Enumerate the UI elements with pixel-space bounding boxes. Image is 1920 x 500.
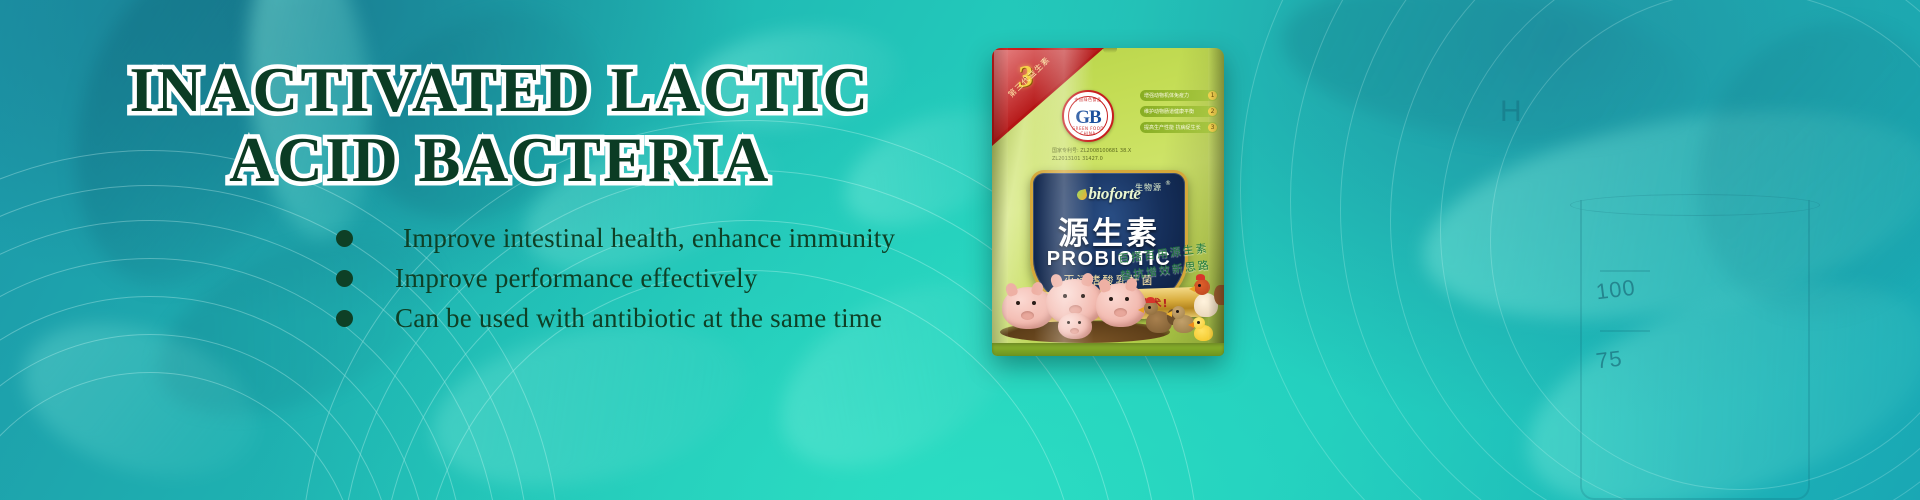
brand-name: bioforte: [1030, 184, 1188, 204]
chick-eye: [1197, 321, 1200, 324]
list-item: Improve intestinal health, enhance immun…: [336, 218, 976, 258]
piglet-illustration: [1058, 313, 1092, 339]
hen-beak: [1138, 307, 1144, 313]
pig-illustration: [1096, 283, 1146, 327]
pig-snout: [1021, 311, 1034, 320]
pig-ear: [1004, 282, 1018, 298]
rooster-illustration: [1188, 277, 1222, 321]
ph-letter-graphic: H: [1500, 95, 1522, 129]
list-item: Can be used with antibiotic at the same …: [336, 298, 976, 338]
pig-eye: [1032, 301, 1036, 305]
graduation-label-75: 75: [1595, 345, 1624, 374]
product-package-image: 3 第三代益生素 中国绿色食品 GB GREEN FOOD CHINA 国家专利…: [992, 48, 1224, 356]
animal-illustration-group: [992, 265, 1224, 343]
feature-text: Improve performance effectively: [395, 263, 758, 294]
feature-chip: 提高生产性能 抗病促生长 3: [1140, 122, 1218, 133]
chip-label: 维护动物肠道健康平衡: [1140, 108, 1194, 115]
chip-number: 3: [1208, 123, 1217, 132]
chip-label: 增强动物机体免疫力: [1140, 92, 1189, 99]
brand-name-text: bioforte: [1088, 184, 1140, 203]
hen-head: [1144, 301, 1158, 315]
leaf-icon: [1076, 189, 1088, 201]
bullet-dot-icon: [336, 230, 353, 247]
chick-beak: [1188, 322, 1194, 328]
feature-list: Improve intestinal health, enhance immun…: [336, 218, 976, 338]
patent-number-block: 国家专利号: ZL2008100681 38.X ZL2013101 31427…: [1052, 148, 1131, 163]
pig-eye: [1063, 294, 1067, 298]
feature-chip: 增强动物机体免疫力 1: [1140, 90, 1218, 101]
brand-name-cn: 生物源: [1135, 182, 1162, 193]
pig-eye: [1016, 301, 1020, 305]
feature-text: Improve intestinal health, enhance immun…: [403, 223, 895, 254]
chip-number: 1: [1208, 91, 1217, 100]
feature-chip-list: 增强动物机体免疫力 1 维护动物肠道健康平衡 2 提高生产性能 抗病促生长 3: [1140, 90, 1218, 138]
patent-line-1: 国家专利号: ZL2008100681 38.X: [1052, 148, 1131, 156]
rooster-comb: [1196, 274, 1205, 280]
pig-eye: [1125, 297, 1129, 301]
patent-line-2: ZL2013101 31427.0: [1052, 156, 1131, 164]
piglet-eye: [1078, 321, 1081, 324]
certification-seal-icon: 中国绿色食品 GB GREEN FOOD CHINA: [1062, 90, 1114, 142]
feature-text: Can be used with antibiotic at the same …: [395, 303, 882, 334]
rooster-eye: [1198, 284, 1201, 287]
seal-top-text: 中国绿色食品: [1064, 97, 1112, 103]
feature-chip: 维护动物肠道健康平衡 2: [1140, 106, 1218, 117]
registered-mark: ®: [1165, 180, 1171, 187]
rooster-head: [1194, 279, 1210, 295]
piglet-eye: [1067, 321, 1070, 324]
seal-bottom-text: GREEN FOOD CHINA: [1064, 126, 1112, 136]
package-bag: 3 第三代益生素 中国绿色食品 GB GREEN FOOD CHINA 国家专利…: [992, 48, 1224, 356]
pig-ear: [1124, 277, 1138, 293]
hen-eye: [1148, 306, 1151, 309]
bullet-dot-icon: [336, 310, 353, 327]
list-item: Improve performance effectively: [336, 258, 976, 298]
pig-eye: [1109, 297, 1113, 301]
bullet-dot-icon: [336, 270, 353, 287]
pig-snout: [1114, 308, 1127, 317]
product-promo-banner: 100 75 H INACTIVATED LACTIC ACID BACTERI…: [0, 0, 1920, 500]
duckling-eye: [1176, 310, 1179, 313]
pig-ear: [1049, 273, 1063, 289]
bag-tear-notch: [1103, 48, 1117, 53]
pig-ear: [1030, 281, 1044, 297]
pig-eye: [1081, 294, 1085, 298]
rooster-tail: [1214, 285, 1224, 305]
chip-number: 2: [1208, 107, 1217, 116]
chip-label: 提高生产性能 抗病促生长: [1140, 124, 1201, 131]
rooster-beak: [1189, 286, 1195, 292]
piglet-snout: [1070, 328, 1079, 334]
duckling-beak: [1166, 311, 1172, 317]
bag-bottom-seal: [992, 343, 1224, 356]
pig-ear: [1080, 272, 1094, 288]
hen-comb: [1146, 297, 1155, 303]
graduation-label-100: 100: [1595, 275, 1638, 306]
